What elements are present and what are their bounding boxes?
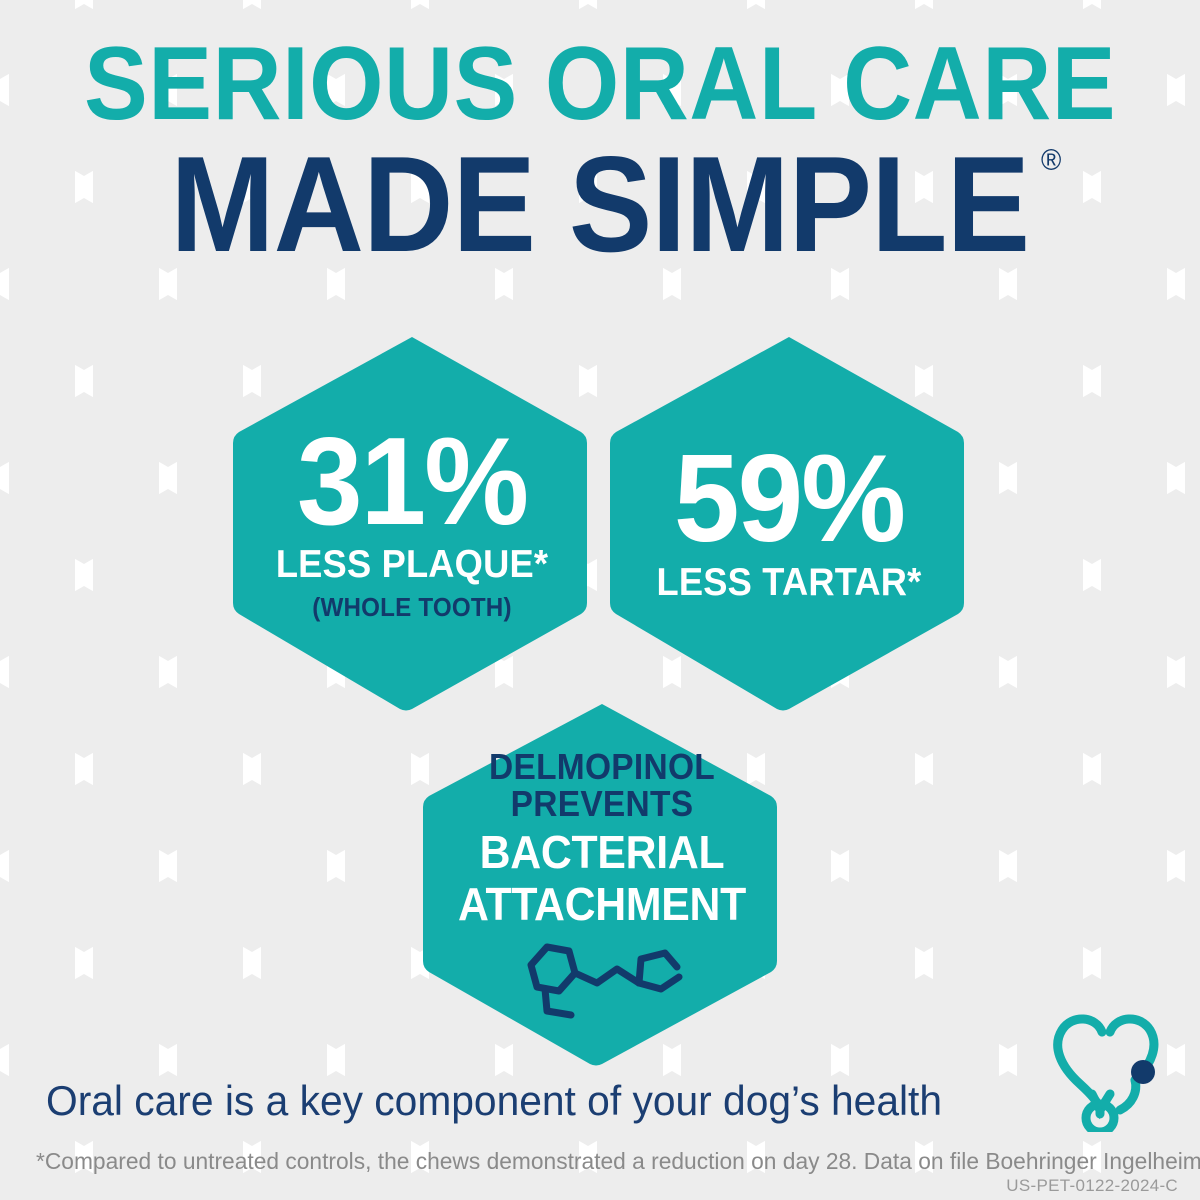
stat-badge-plaque: 31% LESS PLAQUE* (WHOLE TOOTH) [233, 333, 591, 713]
tagline: Oral care is a key component of your dog… [46, 1078, 942, 1124]
headline-line-1: SERIOUS ORAL CARE [48, 34, 1152, 136]
document-code: US-PET-0122-2024-C [1006, 1176, 1178, 1196]
stat-label: LESS PLAQUE* [260, 545, 563, 586]
molecule-wrapper [439, 939, 765, 1019]
poster-canvas: SERIOUS ORAL CARE MADE SIMPLE ® 31% LESS… [0, 0, 1200, 1200]
registered-trademark-icon: ® [1041, 146, 1060, 176]
delmopinol-top-line-2: PREVENTS [450, 786, 753, 823]
delmopinol-badge: DELMOPINOL PREVENTS BACTERIAL ATTACHMENT [423, 700, 781, 1068]
delmopinol-badge-content: DELMOPINOL PREVENTS BACTERIAL ATTACHMENT [423, 749, 781, 1018]
stat-sublabel: (WHOLE TOOTH) [260, 593, 563, 622]
headline-line-2: MADE SIMPLE [171, 128, 1030, 280]
stat-label: LESS TARTAR* [637, 563, 940, 604]
stat-badge-tartar: 59% LESS TARTAR* [610, 333, 968, 713]
delmopinol-main-line-2: ATTACHMENT [450, 881, 753, 927]
delmopinol-main-line-1: BACTERIAL [450, 829, 753, 875]
headline-block: SERIOUS ORAL CARE MADE SIMPLE ® [0, 34, 1200, 269]
headline-line-2-wrapper: MADE SIMPLE ® [171, 140, 1030, 269]
molecule-structure-icon [509, 939, 695, 1019]
footnote-text: *Compared to untreated controls, the che… [36, 1148, 1161, 1176]
delmopinol-top-line-1: DELMOPINOL [450, 749, 753, 786]
stat-number: 31% [257, 425, 567, 539]
stat-badge-tartar-content: 59% LESS TARTAR* [610, 442, 968, 603]
heart-stethoscope-icon [1040, 1010, 1180, 1132]
stat-number: 59% [634, 442, 944, 556]
stat-badge-plaque-content: 31% LESS PLAQUE* (WHOLE TOOTH) [233, 425, 591, 622]
